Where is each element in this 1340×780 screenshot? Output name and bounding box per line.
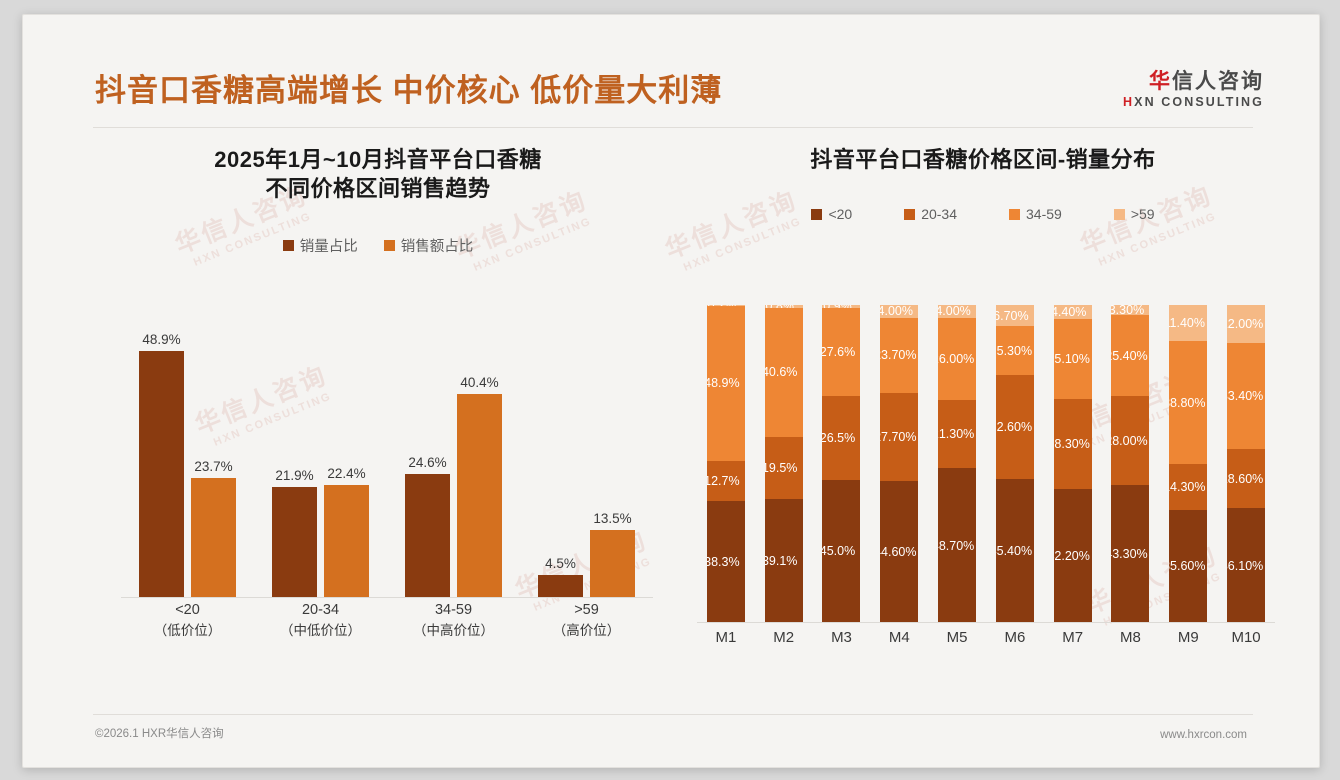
stacked-bar-segment[interactable]: 4.00%: [880, 305, 918, 318]
x-axis-line: [697, 622, 1275, 623]
logo-chinese: 华信人咨询: [1123, 70, 1264, 93]
stacked-bar-segment[interactable]: 21.30%: [938, 400, 976, 468]
legend-label: 销量占比: [300, 235, 358, 256]
page-title: 抖音口香糖高端增长 中价核心 低价量大利薄: [95, 65, 722, 110]
bar-column[interactable]: 4.5%: [538, 320, 583, 598]
stacked-bar-column: 4.00%26.00%21.30%48.70%: [928, 305, 986, 623]
segment-value-label: 45.0%: [822, 544, 860, 558]
stacked-bar-segment[interactable]: 25.40%: [1111, 315, 1149, 396]
category-label-main: <20: [175, 602, 200, 618]
segment-value-label: 28.00%: [1111, 434, 1149, 448]
segment-value-label: 45.40%: [996, 544, 1034, 558]
stacked-bar[interactable]: 0.8%40.6%19.5%39.1%: [765, 305, 803, 623]
stacked-bar-segment[interactable]: 26.00%: [938, 318, 976, 401]
stacked-bar[interactable]: 6.70%15.30%32.60%45.40%: [996, 305, 1034, 623]
bar-column[interactable]: 23.7%: [191, 320, 236, 598]
x-axis-line: [121, 597, 653, 598]
stacked-bar[interactable]: 0.2%48.9%12.7%38.3%: [707, 305, 745, 623]
legend-left-item[interactable]: 销量占比: [283, 235, 358, 256]
stacked-bar-column: 4.00%23.70%27.70%44.60%: [870, 305, 928, 623]
segment-value-label: 28.30%: [1054, 437, 1092, 451]
legend-swatch-icon: [283, 240, 294, 251]
category-label-sub: （高价位）: [520, 621, 653, 641]
logo-cn-rest: 信人咨询: [1172, 70, 1264, 93]
bar-value-label: 48.9%: [142, 332, 180, 347]
footer-website: www.hxrcon.com: [1160, 729, 1247, 741]
segment-value-label: 23.70%: [880, 348, 918, 362]
stacked-bar-column: 4.40%25.10%28.30%42.20%: [1044, 305, 1102, 623]
axis-tick-label: M6: [986, 629, 1044, 657]
stacked-bar[interactable]: 3.30%25.40%28.00%43.30%: [1111, 305, 1149, 623]
bar[interactable]: [590, 530, 635, 598]
left-chart-title-line2: 不同价格区间销售趋势: [83, 174, 673, 203]
stacked-bar-segment[interactable]: 45.40%: [996, 479, 1034, 623]
legend-label: <20: [828, 206, 852, 222]
axis-tick-label: M5: [928, 629, 986, 657]
segment-value-label: 35.60%: [1169, 559, 1207, 573]
legend-label: 销售额占比: [401, 235, 474, 256]
stacked-bar-column: 0.2%48.9%12.7%38.3%: [697, 305, 755, 623]
stacked-bar-column: 12.00%33.40%18.60%36.10%: [1217, 305, 1275, 623]
segment-value-label: 36.10%: [1227, 559, 1265, 573]
legend-right-item[interactable]: <20: [811, 206, 852, 222]
segment-value-label: 26.00%: [938, 352, 976, 366]
segment-value-label: 12.7%: [707, 474, 745, 488]
category-label: <20（低价位）: [121, 600, 254, 650]
stacked-bar-segment[interactable]: 11.40%: [1169, 305, 1207, 341]
legend-right-item[interactable]: 20-34: [904, 206, 957, 222]
segment-value-label: 26.5%: [822, 431, 860, 445]
stacked-bar-column: 3.30%25.40%28.00%43.30%: [1102, 305, 1160, 623]
footer-copyright: ©2026.1 HXR华信人咨询: [95, 725, 224, 741]
bar-group: 48.9%23.7%: [121, 320, 254, 598]
axis-tick-label: M9: [1159, 629, 1217, 657]
logo-en-rest: XN CONSULTING: [1134, 95, 1264, 109]
legend-right-item[interactable]: >59: [1114, 206, 1155, 222]
segment-value-label: 19.5%: [765, 461, 803, 475]
footer-divider: [93, 714, 1253, 715]
axis-tick-label: M8: [1102, 629, 1160, 657]
bar-value-label: 22.4%: [327, 466, 365, 481]
brand-logo: 华信人咨询 HXN CONSULTING: [1123, 70, 1264, 109]
stacked-bar[interactable]: 4.00%23.70%27.70%44.60%: [880, 305, 918, 623]
bar-value-label: 23.7%: [194, 459, 232, 474]
stacked-bar[interactable]: 4.00%26.00%21.30%48.70%: [938, 305, 976, 623]
logo-en-red: H: [1123, 95, 1134, 109]
legend-swatch-icon: [904, 209, 915, 220]
stacked-bar-segment[interactable]: 48.70%: [938, 468, 976, 623]
axis-tick-label: M4: [870, 629, 928, 657]
segment-value-label: 4.00%: [880, 305, 918, 318]
segment-value-label: 27.6%: [822, 345, 860, 359]
segment-value-label: 15.30%: [996, 344, 1034, 358]
bar-value-label: 40.4%: [460, 375, 498, 390]
slide: 华信人咨询 HXN CONSULTING 华信人咨询 HXN CONSULTIN…: [22, 14, 1320, 768]
axis-tick-label: M10: [1217, 629, 1275, 657]
category-label-main: 20-34: [302, 602, 339, 618]
bar-value-label: 21.9%: [275, 468, 313, 483]
stacked-bar-segment[interactable]: 28.30%: [1054, 399, 1092, 489]
left-chart-panel: 2025年1月~10月抖音平台口香糖 不同价格区间销售趋势 销量占比销售额占比 …: [83, 145, 673, 705]
axis-tick-label: M1: [697, 629, 755, 657]
stacked-bar[interactable]: 0.9%27.6%26.5%45.0%: [822, 305, 860, 623]
category-label-sub: （低价位）: [121, 621, 254, 641]
category-label: 34-59（中高价位）: [387, 600, 520, 650]
bar-value-label: 24.6%: [408, 455, 446, 470]
grouped-bar-chart: 48.9%23.7%21.9%22.4%24.6%40.4%4.5%13.5% …: [93, 320, 663, 650]
segment-value-label: 25.10%: [1054, 352, 1092, 366]
segment-value-label: 18.60%: [1227, 472, 1265, 486]
legend-label: 34-59: [1026, 206, 1062, 222]
bar[interactable]: [191, 478, 236, 598]
stacked-bar-segment[interactable]: 43.30%: [1111, 485, 1149, 623]
legend-label: 20-34: [921, 206, 957, 222]
stacked-bar-plot-area: 0.2%48.9%12.7%38.3%0.8%40.6%19.5%39.1%0.…: [697, 305, 1275, 623]
segment-value-label: 4.40%: [1054, 305, 1092, 319]
bar-value-label: 13.5%: [593, 511, 631, 526]
stacked-bar-column: 0.9%27.6%26.5%45.0%: [813, 305, 871, 623]
stacked-bar-segment[interactable]: 26.5%: [822, 396, 860, 480]
bar-column[interactable]: 21.9%: [272, 320, 317, 598]
stacked-bar-segment[interactable]: 32.60%: [996, 375, 1034, 479]
segment-value-label: 11.40%: [1169, 316, 1207, 330]
stacked-bar-segment[interactable]: 42.20%: [1054, 489, 1092, 623]
legend-swatch-icon: [811, 209, 822, 220]
segment-value-label: 32.60%: [996, 420, 1034, 434]
stacked-bar-segment[interactable]: 6.70%: [996, 305, 1034, 326]
stacked-bar-segment[interactable]: 38.80%: [1169, 341, 1207, 464]
category-label-sub: （中低价位）: [254, 621, 387, 641]
stacked-bar-segment[interactable]: 4.00%: [938, 305, 976, 318]
left-chart-title-line1: 2025年1月~10月抖音平台口香糖: [83, 145, 673, 174]
segment-value-label: 38.80%: [1169, 396, 1207, 410]
stacked-bar-column: 11.40%38.80%14.30%35.60%: [1159, 305, 1217, 623]
bar-group: 21.9%22.4%: [254, 320, 387, 598]
stacked-bar-segment[interactable]: 38.3%: [707, 501, 745, 623]
left-chart-legend: 销量占比销售额占比: [83, 235, 673, 256]
right-chart-legend: <2020-3434-59>59: [683, 206, 1283, 222]
segment-value-label: 40.6%: [765, 365, 803, 379]
bar-column[interactable]: 40.4%: [457, 320, 502, 598]
category-label-main: >59: [574, 602, 599, 618]
segment-value-label: 48.70%: [938, 539, 976, 553]
stacked-bar-segment[interactable]: 36.10%: [1227, 508, 1265, 623]
stacked-bar-segment[interactable]: 28.00%: [1111, 396, 1149, 485]
stacked-bar-segment[interactable]: 12.7%: [707, 461, 745, 501]
segment-value-label: 27.70%: [880, 430, 918, 444]
axis-tick-label: M7: [1044, 629, 1102, 657]
stacked-bar-segment[interactable]: 19.5%: [765, 437, 803, 499]
bar-column[interactable]: 48.9%: [139, 320, 184, 598]
stacked-bar-segment[interactable]: 44.60%: [880, 481, 918, 623]
bar-column[interactable]: 24.6%: [405, 320, 450, 598]
logo-cn-red: 华: [1149, 70, 1172, 93]
stacked-bar[interactable]: 12.00%33.40%18.60%36.10%: [1227, 305, 1265, 623]
stacked-bar-segment[interactable]: 3.30%: [1111, 305, 1149, 315]
segment-value-label: 25.40%: [1111, 349, 1149, 363]
segment-value-label: 6.70%: [996, 309, 1034, 323]
grouped-bar-category-labels: <20（低价位）20-34（中低价位）34-59（中高价位）>59（高价位）: [121, 600, 653, 650]
bar-value-label: 4.5%: [545, 556, 576, 571]
right-chart-title: 抖音平台口香糖价格区间-销量分布: [683, 145, 1283, 174]
logo-english: HXN CONSULTING: [1123, 95, 1264, 109]
category-label: 20-34（中低价位）: [254, 600, 387, 650]
bar-group: 4.5%13.5%: [520, 320, 653, 598]
segment-value-label: 39.1%: [765, 554, 803, 568]
legend-swatch-icon: [1009, 209, 1020, 220]
left-chart-title: 2025年1月~10月抖音平台口香糖 不同价格区间销售趋势: [83, 145, 673, 203]
stacked-bar-segment[interactable]: 12.00%: [1227, 305, 1265, 343]
bar[interactable]: [457, 394, 502, 598]
header-divider: [93, 127, 1253, 128]
bar[interactable]: [272, 487, 317, 598]
stacked-bar-segment[interactable]: 15.30%: [996, 326, 1034, 375]
bar-group: 24.6%40.4%: [387, 320, 520, 598]
stacked-bar-segment[interactable]: 27.70%: [880, 393, 918, 481]
stacked-bar-segment[interactable]: 23.70%: [880, 318, 918, 393]
stacked-bar-column: 0.8%40.6%19.5%39.1%: [755, 305, 813, 623]
segment-value-label: 42.20%: [1054, 549, 1092, 563]
legend-swatch-icon: [1114, 209, 1125, 220]
stacked-bar-segment[interactable]: 27.6%: [822, 308, 860, 396]
bar[interactable]: [324, 485, 369, 598]
segment-value-label: 38.3%: [707, 555, 745, 569]
stacked-bar-tick-labels: M1M2M3M4M5M6M7M8M9M10: [697, 629, 1275, 657]
segment-value-label: 44.60%: [880, 545, 918, 559]
grouped-bar-plot-area: 48.9%23.7%21.9%22.4%24.6%40.4%4.5%13.5%: [121, 320, 653, 598]
stacked-bar-segment[interactable]: 33.40%: [1227, 343, 1265, 449]
legend-right-item[interactable]: 34-59: [1009, 206, 1062, 222]
segment-value-label: 21.30%: [938, 427, 976, 441]
stacked-bar-segment[interactable]: 14.30%: [1169, 464, 1207, 509]
segment-value-label: 14.30%: [1169, 480, 1207, 494]
stacked-bar-segment[interactable]: 18.60%: [1227, 449, 1265, 508]
category-label: >59（高价位）: [520, 600, 653, 650]
legend-label: >59: [1131, 206, 1155, 222]
legend-swatch-icon: [384, 240, 395, 251]
stacked-bar-segment[interactable]: 48.9%: [707, 306, 745, 461]
segment-value-label: 4.00%: [938, 305, 976, 318]
stacked-bar-segment[interactable]: 35.60%: [1169, 510, 1207, 623]
segment-value-label: 33.40%: [1227, 389, 1265, 403]
stacked-bar-segment[interactable]: 45.0%: [822, 480, 860, 623]
segment-value-label: 12.00%: [1227, 317, 1265, 331]
axis-tick-label: M3: [813, 629, 871, 657]
bar[interactable]: [405, 474, 450, 598]
stacked-bar-column: 6.70%15.30%32.60%45.40%: [986, 305, 1044, 623]
axis-tick-label: M2: [755, 629, 813, 657]
segment-value-label: 43.30%: [1111, 547, 1149, 561]
category-label-sub: （中高价位）: [387, 621, 520, 641]
stacked-bar-chart: 0.2%48.9%12.7%38.3%0.8%40.6%19.5%39.1%0.…: [691, 305, 1277, 665]
stacked-bar-segment[interactable]: 39.1%: [765, 499, 803, 623]
stacked-bar[interactable]: 4.40%25.10%28.30%42.20%: [1054, 305, 1092, 623]
stacked-bar-segment[interactable]: 25.10%: [1054, 319, 1092, 399]
slide-header: 抖音口香糖高端增长 中价核心 低价量大利薄 华信人咨询 HXN CONSULTI…: [23, 15, 1319, 110]
bar-column[interactable]: 13.5%: [590, 320, 635, 598]
stacked-bar[interactable]: 11.40%38.80%14.30%35.60%: [1169, 305, 1207, 623]
bar[interactable]: [139, 351, 184, 598]
legend-left-item[interactable]: 销售额占比: [384, 235, 474, 256]
stacked-bar-segment[interactable]: 4.40%: [1054, 305, 1092, 319]
segment-value-label: 48.9%: [707, 376, 745, 390]
bar-column[interactable]: 22.4%: [324, 320, 369, 598]
stacked-bar-segment[interactable]: 40.6%: [765, 308, 803, 437]
category-label-main: 34-59: [435, 602, 472, 618]
right-chart-panel: 抖音平台口香糖价格区间-销量分布 <2020-3434-59>59 0.2%48…: [683, 145, 1283, 705]
bar[interactable]: [538, 575, 583, 598]
